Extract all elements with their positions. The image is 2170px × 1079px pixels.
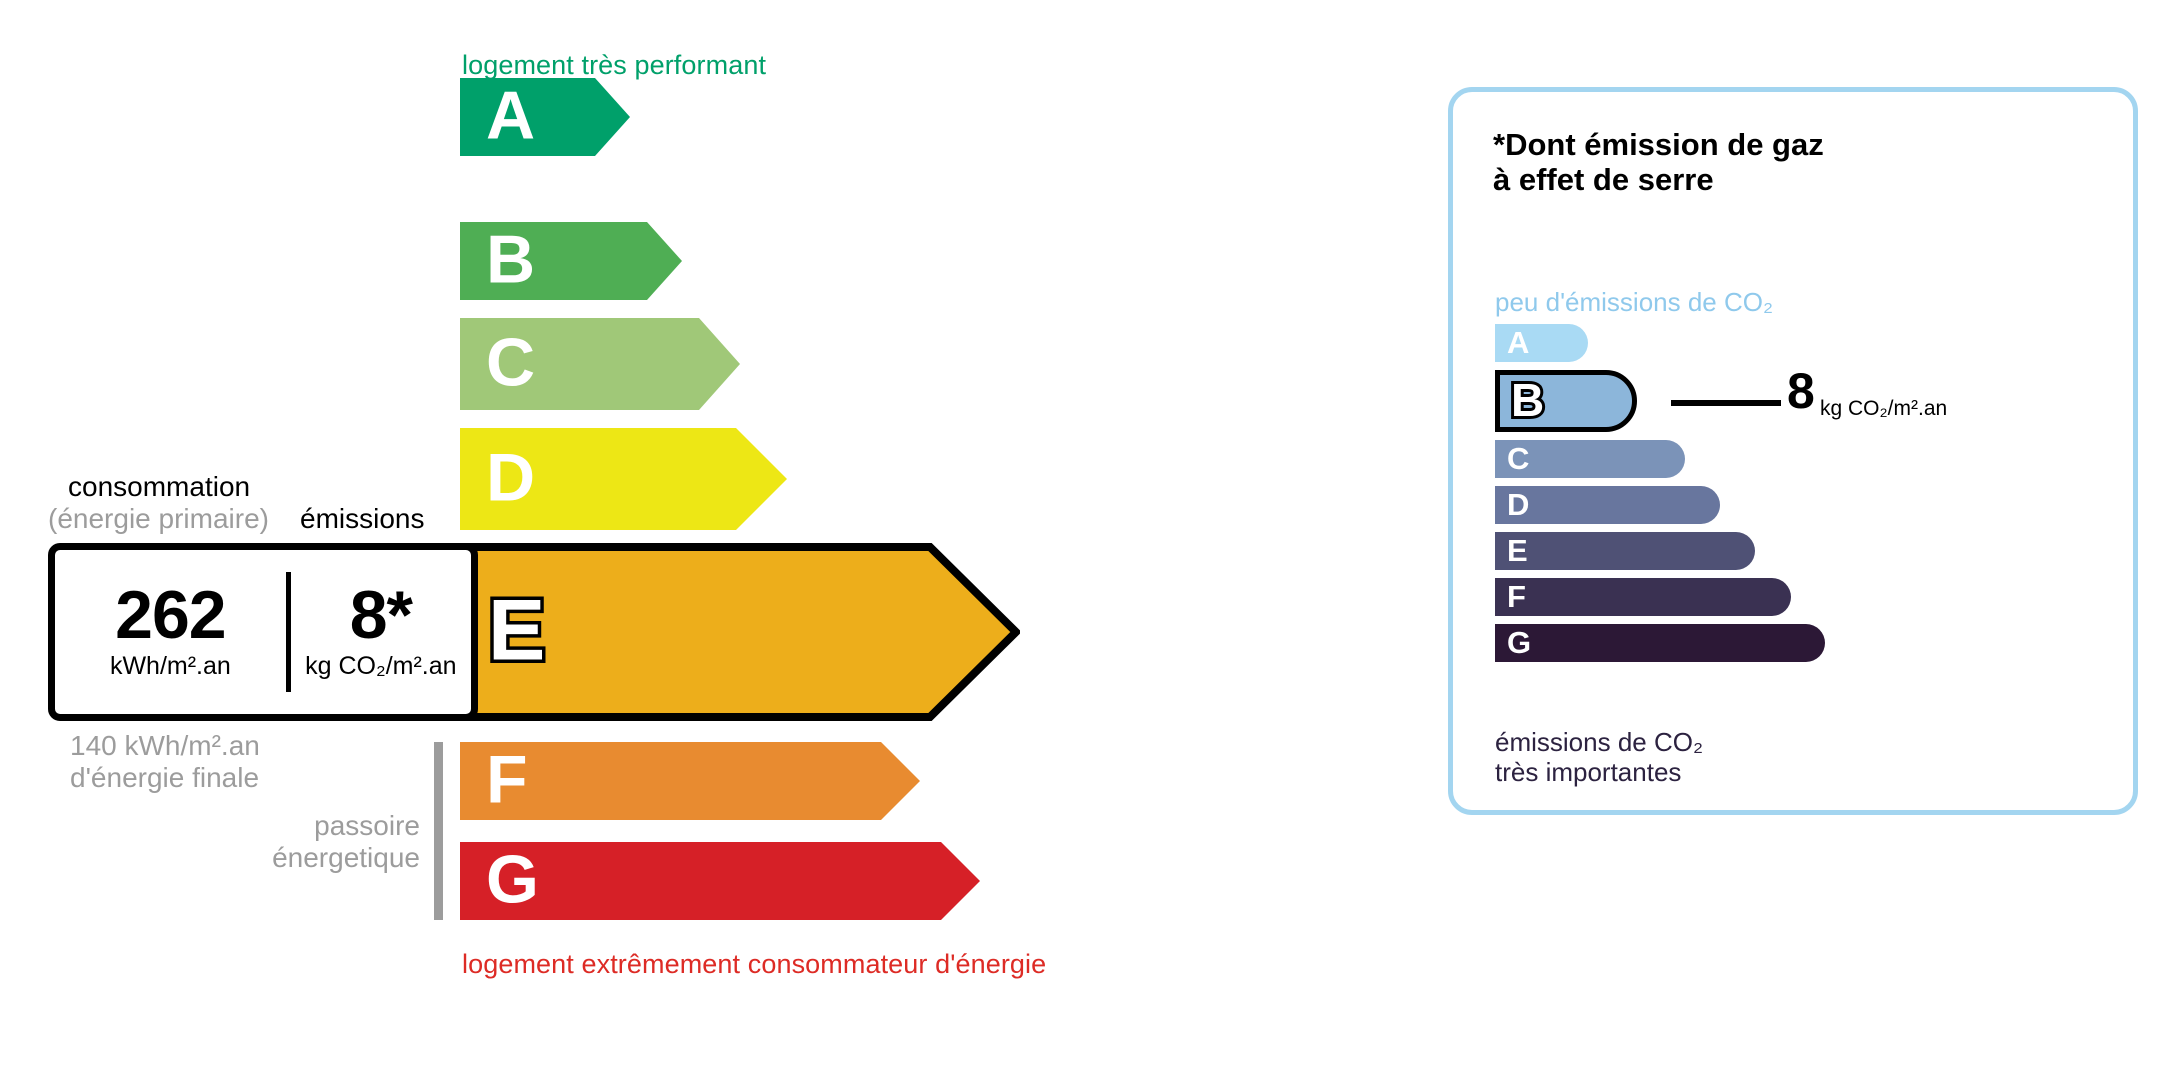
final-energy-line1: 140 kWh/m².an [70, 730, 260, 762]
co2-callout-unit: kg CO₂/m².an [1820, 397, 1947, 421]
energy-performance-panel: logement très performant A B C [0, 0, 1420, 1079]
energy-bar-f: F [460, 742, 920, 820]
energy-bar-g-shape: G [460, 842, 980, 920]
co2-bar-f: F [1495, 578, 1791, 616]
energy-bar-d-letter: D [486, 444, 535, 512]
co2-legend-bottom-line1: émissions de CO₂ [1495, 727, 1703, 757]
co2-bar-e-letter: E [1507, 535, 1528, 566]
emissions-label: émissions [300, 503, 424, 535]
energy-bar-a-shape: A [460, 78, 630, 156]
emissions-unit: kg CO₂/m².an [305, 652, 456, 681]
primary-energy-sublabel: (énergie primaire) [48, 503, 269, 535]
energy-bar-b: B [460, 222, 682, 300]
co2-bar-d: D [1495, 486, 1720, 524]
energy-bar-b-shape: B [460, 222, 682, 300]
co2-bar-b-selected: B 8 kg CO₂/m².an [1495, 370, 1637, 432]
energy-bar-d: D [460, 428, 787, 530]
emissions-value: 8* [350, 583, 412, 648]
co2-legend-bottom: émissions de CO₂ très importantes [1495, 727, 1703, 787]
co2-panel-title: *Dont émission de gaz à effet de serre [1493, 128, 1824, 197]
energy-bar-f-letter: F [486, 746, 528, 814]
co2-title-line2: à effet de serre [1493, 163, 1824, 198]
consumption-label: consommation [68, 471, 250, 503]
co2-bar-b-letter: B [1511, 377, 1544, 423]
consumption-unit: kWh/m².an [110, 652, 231, 681]
final-energy-label: 140 kWh/m².an d'énergie finale [70, 730, 260, 795]
energy-bar-a: A [460, 78, 630, 156]
passoire-label: passoire énergetique [160, 810, 420, 875]
passoire-indicator-bar [434, 742, 443, 920]
emissions-value-cell: 8* kg CO₂/m².an [291, 550, 471, 714]
co2-bar-a: A [1495, 324, 1588, 362]
co2-bar-d-letter: D [1507, 489, 1529, 520]
consumption-value: 262 [115, 583, 225, 648]
co2-bar-e-shape [1495, 532, 1755, 570]
co2-bar-a-letter: A [1507, 327, 1529, 358]
energy-bar-f-shape: F [460, 742, 920, 820]
co2-bar-e: E [1495, 532, 1755, 570]
energy-bar-g: G [460, 842, 980, 920]
co2-callout-leader-line [1671, 400, 1781, 406]
co2-bar-f-letter: F [1507, 581, 1526, 612]
co2-callout-value: 8 [1787, 366, 1815, 416]
co2-title-line1: *Dont émission de gaz [1493, 128, 1824, 163]
passoire-line2: énergetique [160, 842, 420, 874]
co2-bar-c: C [1495, 440, 1685, 478]
co2-legend-bottom-line2: très importantes [1495, 757, 1703, 787]
co2-bar-c-letter: C [1507, 443, 1529, 474]
energy-bar-e-letter: E [488, 587, 545, 673]
co2-bar-g-shape [1495, 624, 1825, 662]
co2-bar-g-letter: G [1507, 627, 1531, 658]
energy-bar-f-arrow-icon [460, 742, 920, 820]
energy-bar-c: C [460, 318, 740, 410]
consumption-value-cell: 262 kWh/m².an [55, 550, 286, 714]
dpe-value-box: 262 kWh/m².an 8* kg CO₂/m².an [48, 543, 478, 721]
energy-bar-c-letter: C [486, 329, 535, 397]
energy-bar-e-selected: E [452, 543, 1020, 721]
energy-legend-bottom: logement extrêmement consommateur d'éner… [462, 949, 1046, 980]
passoire-line1: passoire [160, 810, 420, 842]
energy-bar-e-shape: E [452, 543, 1020, 721]
co2-emissions-panel: *Dont émission de gaz à effet de serre p… [1448, 87, 2138, 815]
co2-bar-g: G [1495, 624, 1825, 662]
energy-bar-c-shape: C [460, 318, 740, 410]
co2-legend-top: peu d'émissions de CO₂ [1495, 287, 1773, 318]
energy-bar-a-letter: A [486, 82, 535, 150]
energy-bar-d-shape: D [460, 428, 787, 530]
energy-legend-top: logement très performant [462, 50, 766, 81]
energy-bar-g-letter: G [486, 846, 539, 914]
co2-bar-f-shape [1495, 578, 1791, 616]
final-energy-line2: d'énergie finale [70, 762, 260, 794]
energy-bar-b-letter: B [486, 226, 535, 294]
